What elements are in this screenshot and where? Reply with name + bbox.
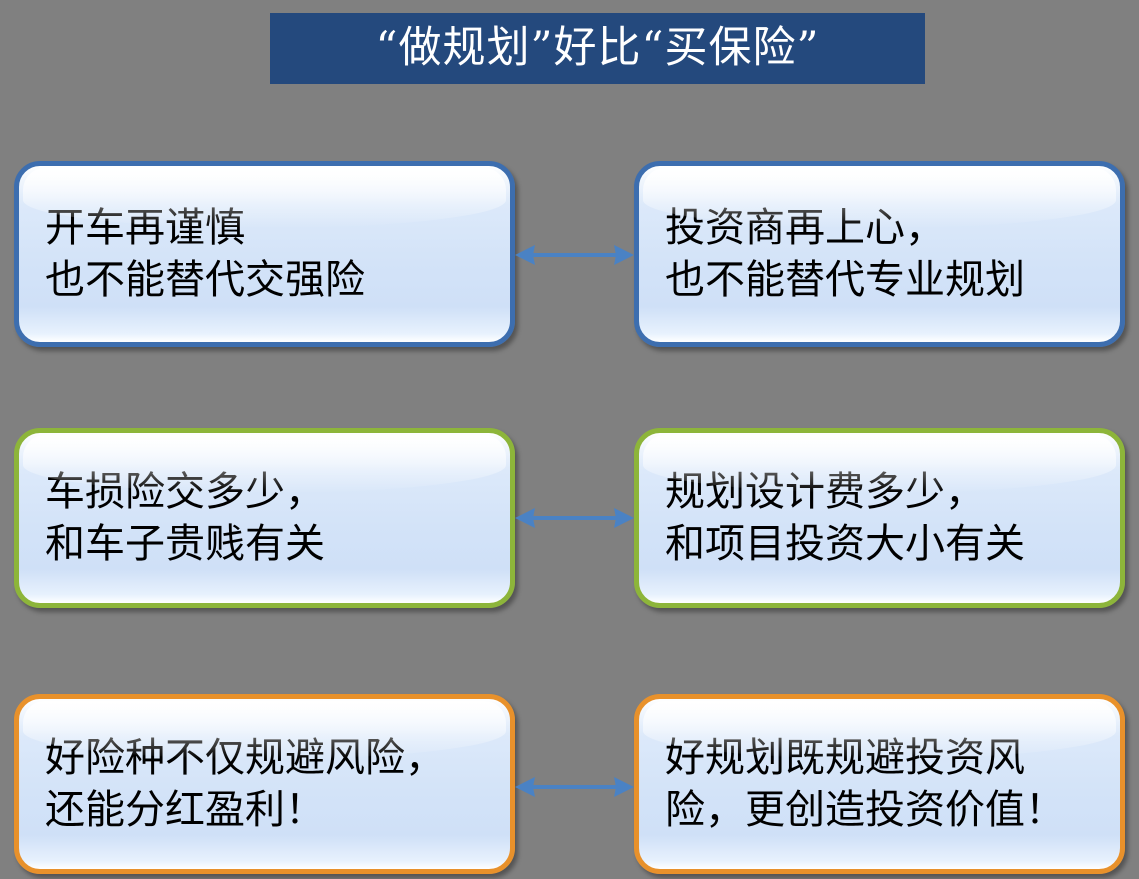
callout-box-insurance-1[interactable]: 开车再谨慎 也不能替代交强险 xyxy=(14,161,515,347)
callout-box-planning-1[interactable]: 投资商再上心， 也不能替代专业规划 xyxy=(634,161,1125,347)
callout-box-text: 好规划既规避投资风 险，更创造投资价值！ xyxy=(639,732,1075,836)
callout-box-text: 规划设计费多少， 和项目投资大小有关 xyxy=(639,466,1035,570)
slide-title-banner: “做规划”好比“买保险” xyxy=(270,13,925,84)
callout-box-text: 开车再谨慎 也不能替代交强险 xyxy=(19,202,375,306)
callout-box-planning-3[interactable]: 好规划既规避投资风 险，更创造投资价值！ xyxy=(634,694,1125,874)
callout-box-insurance-3[interactable]: 好险种不仅规避风险， 还能分红盈利！ xyxy=(14,694,515,874)
callout-box-text: 投资商再上心， 也不能替代专业规划 xyxy=(639,202,1035,306)
callout-box-text: 好险种不仅规避风险， 还能分红盈利！ xyxy=(19,732,455,836)
callout-box-text: 车损险交多少， 和车子贵贱有关 xyxy=(19,466,335,570)
callout-box-planning-2[interactable]: 规划设计费多少， 和项目投资大小有关 xyxy=(634,428,1125,608)
comparison-row-2: 车损险交多少， 和车子贵贱有关 规划设计费多少， 和项目投资大小有关 xyxy=(0,428,1139,608)
comparison-row-3: 好险种不仅规避风险， 还能分红盈利！ 好规划既规避投资风 险，更创造投资价值！ xyxy=(0,694,1139,874)
page-title: “做规划”好比“买保险” xyxy=(376,27,820,70)
comparison-row-1: 开车再谨慎 也不能替代交强险 投资商再上心， 也不能替代专业规划 xyxy=(0,161,1139,347)
callout-box-insurance-2[interactable]: 车损险交多少， 和车子贵贱有关 xyxy=(14,428,515,608)
